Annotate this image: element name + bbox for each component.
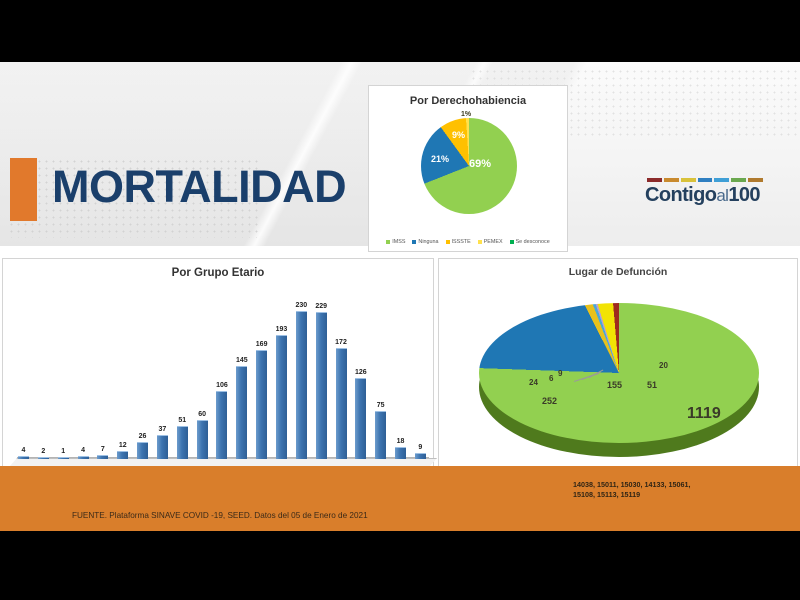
bar-value-label: 230: [295, 302, 307, 309]
bar-rect: [296, 311, 307, 459]
logo-bar-0: [647, 178, 662, 182]
bar-rect: [375, 411, 386, 459]
chart-title-grupo-etario: Por Grupo Etario: [3, 267, 433, 279]
bar-value-label: 169: [256, 341, 268, 348]
pie-label-issste: 9%: [452, 130, 465, 140]
pie-label-ninguna: 21%: [431, 154, 449, 164]
bar-column: 172: [335, 291, 348, 459]
legend-swatch-icon: [412, 240, 416, 244]
legend-item-issste[interactable]: ISSSTE: [446, 239, 471, 245]
bar-rect: [137, 442, 148, 459]
logo-bar-1: [664, 178, 679, 182]
bar-value-label: 2: [41, 448, 45, 455]
bar-column: 37: [156, 291, 169, 459]
chart-panel-derechohabiencia[interactable]: Por Derechohabiencia 69%21%9%1% IMSSNing…: [368, 85, 568, 252]
legend-swatch-icon: [386, 240, 390, 244]
unit-codes-line: 14038, 15011, 15030, 14133, 15061,: [573, 480, 691, 490]
logo-bar-4: [714, 178, 729, 182]
bar-column: 4: [17, 291, 30, 459]
bar-column: 145: [235, 291, 248, 459]
bar-rect: [117, 451, 128, 459]
legend-label: Ninguna: [418, 239, 438, 245]
bar-value-label: 26: [139, 433, 147, 440]
page-title: MORTALIDAD: [52, 161, 346, 213]
bar-column: 229: [315, 291, 328, 459]
legend-item-imss[interactable]: IMSS: [386, 239, 405, 245]
bar-rect: [355, 378, 366, 459]
pie-label-hg-issste: 155: [607, 380, 622, 390]
bar-column: 18: [394, 291, 407, 459]
bar-value-label: 229: [315, 303, 327, 310]
bar-column: 75: [374, 291, 387, 459]
unit-codes-line: 15108, 15113, 15119: [573, 490, 691, 500]
pie-label-hgpa: 9: [558, 369, 562, 378]
bar-rect: [216, 391, 227, 459]
bar-rect: [58, 457, 69, 459]
bar-column: 193: [275, 291, 288, 459]
bar-value-label: 75: [377, 402, 385, 409]
pie-label-hgtm: 24: [529, 378, 538, 387]
bar-rect: [197, 420, 208, 459]
logo-color-bars: [645, 178, 765, 182]
bar-chart-plot-area: 4214712263751601061451691932302291721267…: [17, 291, 427, 481]
unit-codes-list: 14038, 15011, 15030, 14133, 15061,15108,…: [573, 480, 691, 501]
chart-legend-derechohabiencia: IMSSNingunaISSSTEPEMEXSe desconoce: [369, 239, 567, 245]
legend-item-pemex[interactable]: PEMEX: [478, 239, 503, 245]
logo-word-contigo: Contigo: [645, 184, 716, 206]
pie-chart-lugar-defuncion: [479, 295, 759, 460]
legend-swatch-icon: [510, 240, 514, 244]
bar-rect: [38, 457, 49, 459]
title-accent-bar: [10, 158, 37, 221]
bar-column: 230: [295, 291, 308, 459]
bar-value-label: 37: [159, 426, 167, 433]
slide-screenshot: MORTALIDAD Contigoal100 Por Derechohabie…: [0, 0, 800, 600]
pie-label-clinica-privada: 20: [659, 361, 668, 370]
bar-value-label: 172: [335, 339, 347, 346]
bar-value-label: 18: [397, 438, 405, 445]
bar-column: 12: [116, 291, 129, 459]
legend-label: ISSSTE: [452, 239, 471, 245]
bar-column: 2: [37, 291, 50, 459]
bar-column: 7: [96, 291, 109, 459]
bar-value-label: 193: [276, 326, 288, 333]
bar-value-label: 145: [236, 357, 248, 364]
bar-value-label: 1: [61, 448, 65, 455]
bar-rect: [256, 350, 267, 459]
legend-item-se-desconoce[interactable]: Se desconoce: [510, 239, 550, 245]
bar-column: 51: [176, 291, 189, 459]
bar-rect: [97, 455, 108, 460]
bar-series-grupo-etario: 4214712263751601061451691932302291721267…: [17, 291, 427, 459]
legend-swatch-icon: [446, 240, 450, 244]
bar-rect: [78, 456, 89, 459]
legend-label: PEMEX: [484, 239, 503, 245]
bar-column: 60: [196, 291, 209, 459]
pie-label-pemex: 1%: [461, 111, 471, 118]
legend-label: Se desconoce: [516, 239, 550, 245]
legend-label: IMSS: [392, 239, 405, 245]
bar-column: 106: [215, 291, 228, 459]
bar-column: 169: [255, 291, 268, 459]
legend-swatch-icon: [478, 240, 482, 244]
pie-label-hgrr: 6: [549, 374, 553, 383]
pie-label-imss: 69%: [469, 158, 491, 170]
bar-rect: [415, 453, 426, 459]
logo-bar-6: [748, 178, 763, 182]
bar-value-label: 9: [418, 444, 422, 451]
bar-rect: [18, 456, 29, 459]
bar-value-label: 51: [178, 417, 186, 424]
bar-rect: [276, 335, 287, 459]
bar-value-label: 126: [355, 369, 367, 376]
bar-column: 26: [136, 291, 149, 459]
pie-label-chmh: 252: [542, 396, 557, 406]
bar-column: 4: [77, 291, 90, 459]
logo-bar-3: [698, 178, 713, 182]
chart-title-lugar-defuncion: Lugar de Defunción: [439, 266, 797, 278]
logo-word-al: al: [716, 186, 728, 205]
logo-text: Contigoal100: [645, 185, 765, 205]
bar-value-label: 60: [198, 411, 206, 418]
bar-rect: [316, 312, 327, 459]
legend-item-ninguna[interactable]: Ninguna: [412, 239, 438, 245]
presentation-slide: MORTALIDAD Contigoal100 Por Derechohabie…: [0, 62, 800, 531]
bar-value-label: 106: [216, 382, 228, 389]
bar-value-label: 4: [81, 447, 85, 454]
bar-value-label: 12: [119, 442, 127, 449]
logo-bar-5: [731, 178, 746, 182]
bar-column: 9: [414, 291, 427, 459]
pie-label-imss: 1119: [687, 405, 721, 423]
bar-column: 126: [354, 291, 367, 459]
bar-rect: [395, 447, 406, 459]
logo-word-100: 100: [728, 184, 760, 206]
source-note: FUENTE. Plataforma SINAVE COVID -19, SEE…: [72, 511, 368, 520]
bar-value-label: 4: [22, 447, 26, 454]
logo-bar-2: [681, 178, 696, 182]
bar-rect: [336, 348, 347, 459]
bar-rect: [236, 366, 247, 459]
slide-footer: FUENTE. Plataforma SINAVE COVID -19, SEE…: [0, 466, 800, 531]
pie-label-domicilio: 51: [647, 380, 657, 390]
bar-column: 1: [57, 291, 70, 459]
bar-rect: [157, 435, 168, 459]
bar-rect: [177, 426, 188, 459]
chart-title-derechohabiencia: Por Derechohabiencia: [369, 95, 567, 107]
bar-value-label: 7: [101, 446, 105, 453]
contigo-al-100-logo: Contigoal100: [645, 178, 765, 212]
